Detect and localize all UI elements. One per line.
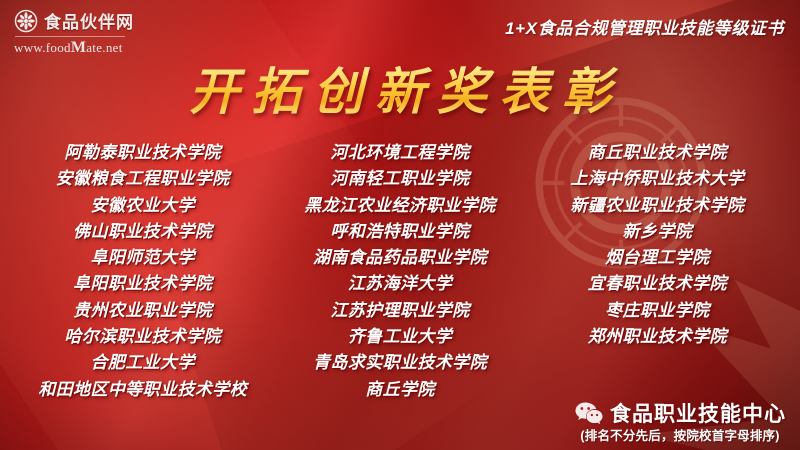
list-item: 呼和浩特职业学院 [330,219,469,245]
list-item: 合肥工业大学 [90,350,194,376]
list-item: 佛山职业技术学院 [73,219,212,245]
list-item: 阜阳职业技术学院 [73,271,212,297]
award-poster: 食品伙伴网 www.foodMate.net 1+X食品合规管理职业技能等级证书… [0,0,800,450]
site-logo[interactable]: 食品伙伴网 www.foodMate.net [14,8,134,57]
list-item: 郑州职业技术学院 [588,324,727,350]
list-item: 哈尔滨职业技术学院 [64,324,221,350]
logo-divider [15,36,125,37]
ordering-note: (排名不分先后，按院校首字母排序) [574,425,786,444]
foodmate-flower-logo-icon [14,9,38,33]
list-item: 和田地区中等职业技术学校 [38,377,247,403]
page-title: 开拓创新奖表彰 [0,52,800,124]
list-item: 江苏海洋大学 [348,271,452,297]
list-item: 河北环境工程学院 [330,140,469,166]
list-item: 烟台理工学院 [605,245,709,271]
wechat-icon [574,401,604,425]
list-item: 商丘职业技术学院 [588,140,727,166]
list-item: 宜春职业技术学院 [588,271,727,297]
wechat-account-name: 食品职业技能中心 [610,398,786,428]
certificate-banner-text: 1+X食品合规管理职业技能等级证书 [505,14,784,39]
logo-row: 食品伙伴网 [14,8,134,33]
list-item: 安徽农业大学 [90,193,194,219]
list-item: 商丘学院 [365,377,435,403]
list-item: 齐鲁工业大学 [348,324,452,350]
school-column-2: 河北环境工程学院 河南轻工职业学院 黑龙江农业经济职业学院 呼和浩特职业学院 湖… [271,140,528,403]
list-item: 枣庄职业学院 [605,298,709,324]
list-item: 上海中侨职业技术大学 [570,166,744,192]
school-columns: 阿勒泰职业技术学院 安徽粮食工程职业学院 安徽农业大学 佛山职业技术学院 阜阳师… [0,140,800,403]
school-column-1: 阿勒泰职业技术学院 安徽粮食工程职业学院 安徽农业大学 佛山职业技术学院 阜阳师… [14,140,271,403]
list-item: 河南轻工职业学院 [330,166,469,192]
wechat-account-row[interactable]: 食品职业技能中心 [574,398,786,428]
list-item: 阿勒泰职业技术学院 [64,140,221,166]
school-column-3: 商丘职业技术学院 上海中侨职业技术大学 新疆农业职业技术学院 新乡学院 烟台理工… [529,140,786,403]
list-item: 新乡学院 [623,219,693,245]
list-item: 阜阳师范大学 [90,245,194,271]
list-item: 安徽粮食工程职业学院 [56,166,230,192]
logo-name-cn: 食品伙伴网 [44,8,134,33]
list-item: 新疆农业职业技术学院 [570,193,744,219]
list-item: 贵州农业职业学院 [73,298,212,324]
list-item: 湖南食品药品职业学院 [313,245,487,271]
list-item: 青岛求实职业技术学院 [313,350,487,376]
list-item: 江苏护理职业学院 [330,298,469,324]
footer: 食品职业技能中心 (排名不分先后，按院校首字母排序) [574,398,786,444]
list-item: 黑龙江农业经济职业学院 [304,193,495,219]
